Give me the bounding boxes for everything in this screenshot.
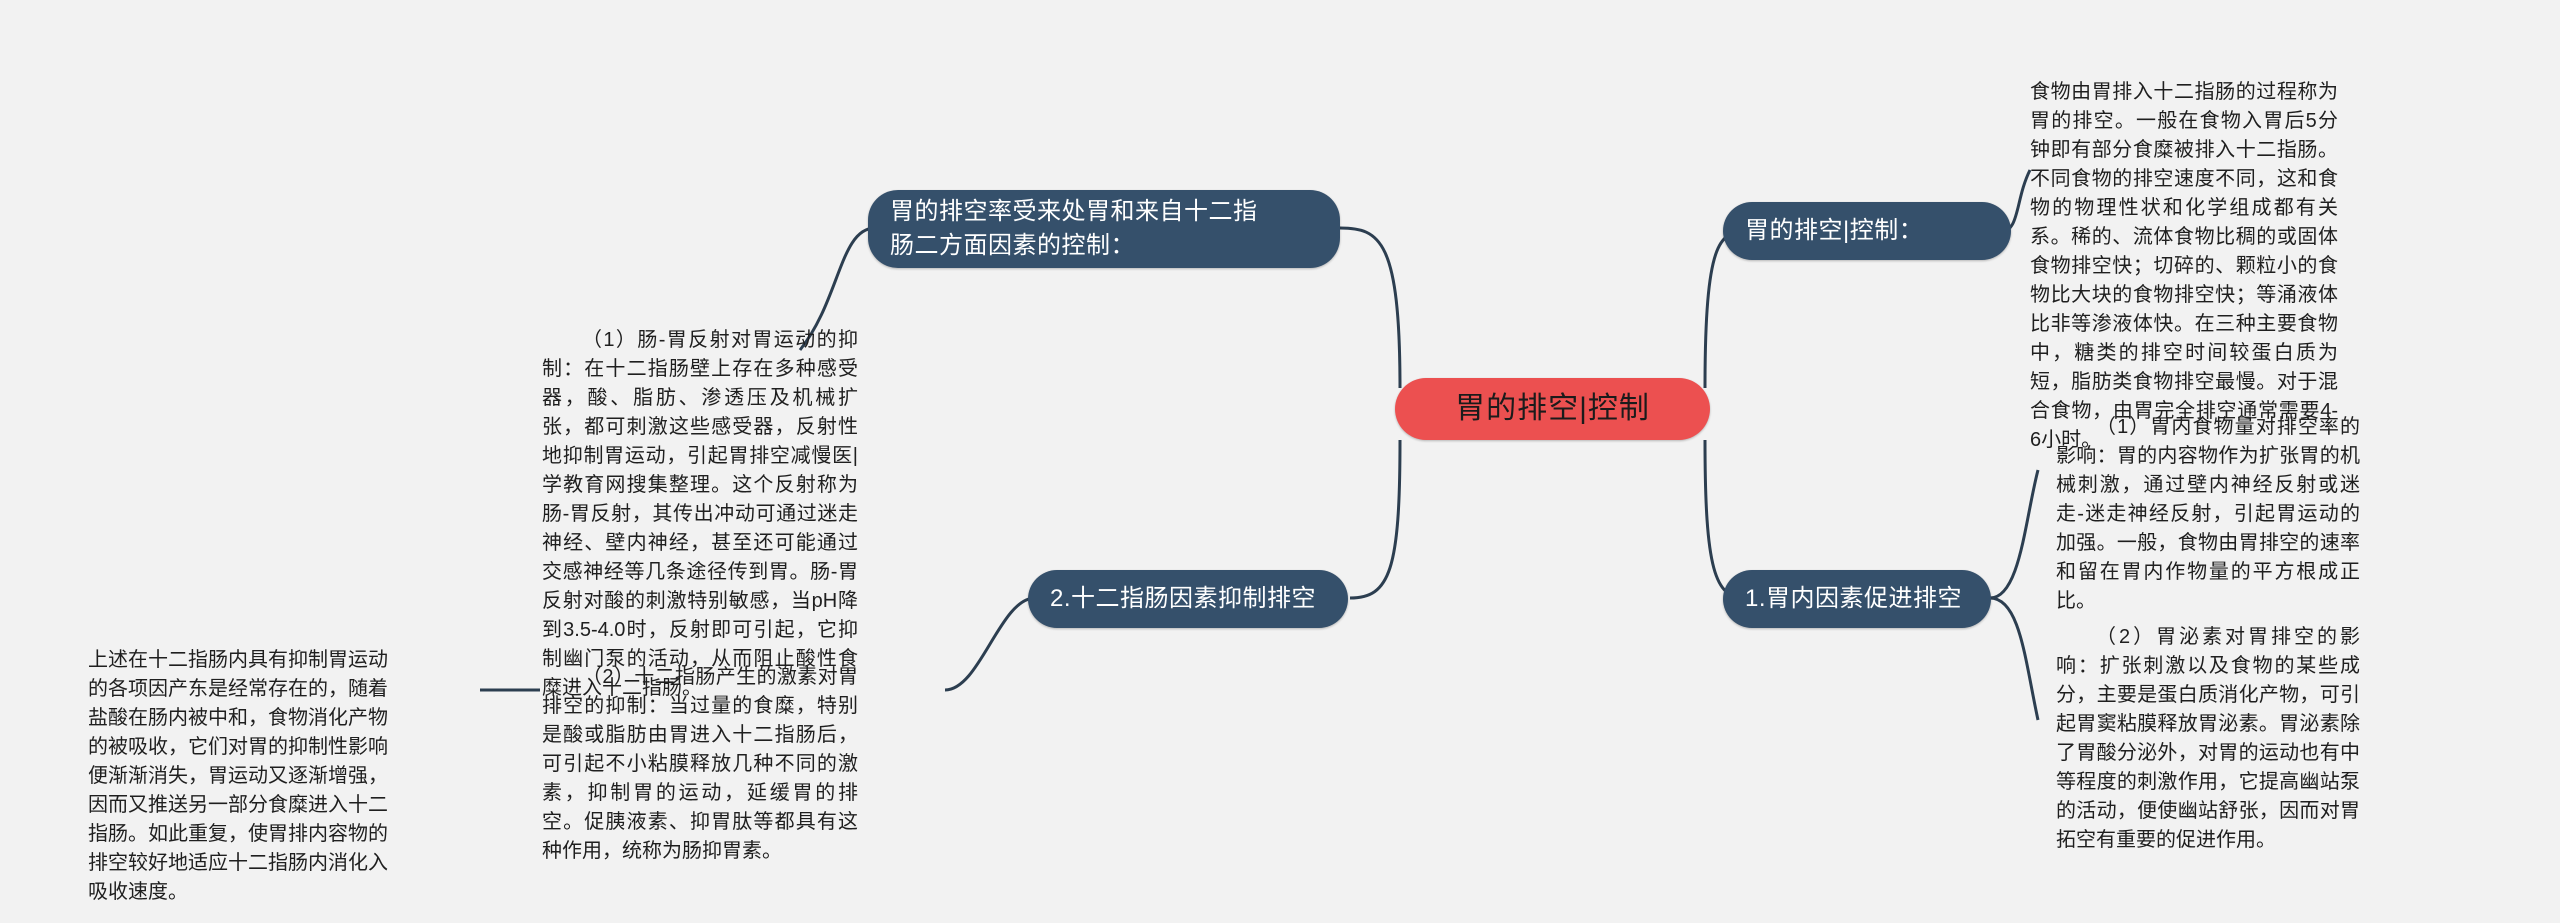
text-block-right-detail-2: （2）胃泌素对胃排空的影响：扩张刺激以及食物的某些成分，主要是蛋白质消化产物，可…: [2056, 623, 2360, 855]
text-block-top-right-detail: 食物由胃排入十二指肠的过程称为胃的排空。一般在食物入胃后5分钟即有部分食糜被排入…: [2030, 78, 2338, 455]
branch-node-bottom-right-label: 1.胃内因素促进排空: [1745, 582, 1962, 616]
text-block-far-left-detail: 上述在十二指肠内具有抑制胃运动的各项因产东是经常存在的，随着盐酸在肠内被中和，食…: [88, 646, 388, 907]
branch-node-bottom-right[interactable]: 1.胃内因素促进排空: [1723, 570, 1991, 628]
branch-node-bottom-left[interactable]: 2.十二指肠因素抑制排空: [1028, 570, 1348, 628]
text-block-left-detail-1: （1）肠-胃反射对胃运动的抑制：在十二指肠壁上存在多种感受器，酸、脂肪、渗透压及…: [542, 326, 858, 703]
branch-node-top-left[interactable]: 胃的排空率受来处胃和来自十二指 肠二方面因素的控制：: [868, 190, 1340, 268]
text-block-left-detail-2: （2）十二指肠产生的激素对胃排空的抑制：当过量的食糜，特别是酸或脂肪由胃进入十二…: [542, 663, 858, 866]
center-node-label: 胃的排空|控制: [1455, 388, 1650, 431]
text-block-right-detail-1: （1）胃内食物量对排空率的影响：胃的内容物作为扩张胃的机械刺激，通过壁内神经反射…: [2056, 413, 2360, 616]
mindmap-canvas: 胃的排空|控制 胃的排空率受来处胃和来自十二指 肠二方面因素的控制： 胃的排空|…: [0, 0, 2560, 923]
branch-node-bottom-left-label: 2.十二指肠因素抑制排空: [1050, 582, 1316, 616]
branch-node-top-left-label: 胃的排空率受来处胃和来自十二指 肠二方面因素的控制：: [890, 195, 1258, 263]
center-node[interactable]: 胃的排空|控制: [1395, 378, 1710, 440]
branch-node-top-right-label: 胃的排空|控制：: [1745, 214, 1923, 248]
branch-node-top-right[interactable]: 胃的排空|控制：: [1723, 202, 2011, 260]
